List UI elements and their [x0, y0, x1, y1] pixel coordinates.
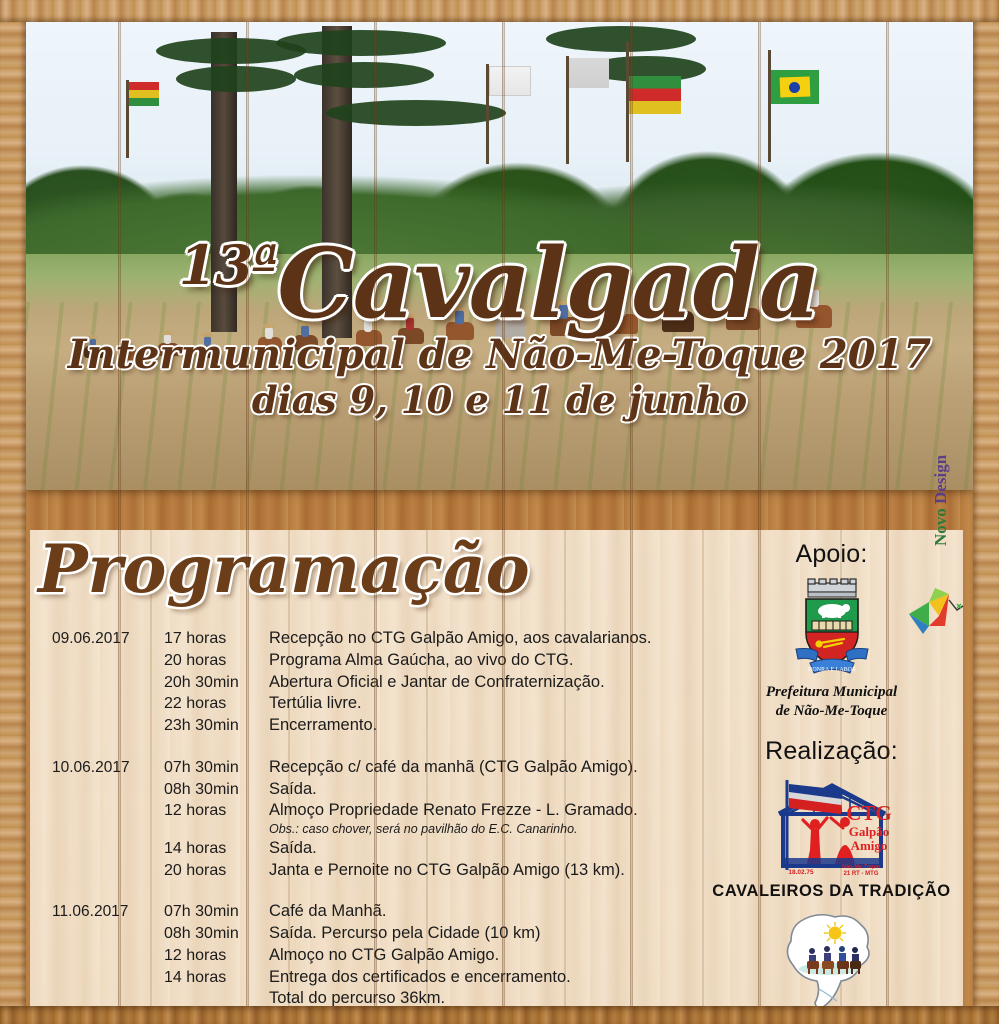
- novo-design-label: Novo Design: [931, 455, 951, 546]
- schedule-date: 10.06.2017: [52, 758, 164, 778]
- svg-text:18.02.75: 18.02.75: [788, 869, 814, 876]
- schedule-row: 12 horas Almoço Propriedade Renato Frezz…: [52, 800, 672, 822]
- schedule-time: 20 horas: [164, 650, 269, 671]
- schedule-time: 08h 30min: [164, 779, 269, 800]
- schedule-time: 07h 30min: [164, 901, 269, 922]
- poster-root: 13ªCavalgada Intermunicipal de Não-Me-To…: [0, 0, 999, 1024]
- schedule-row: 08h 30min Saída.: [52, 779, 672, 801]
- schedule-row: 22 horas Tertúlia livre.: [52, 693, 672, 715]
- araucaria-canopy: [326, 100, 506, 126]
- schedule-time: 08h 30min: [164, 923, 269, 944]
- schedule-time: 07h 30min: [164, 757, 269, 778]
- schedule-desc: Janta e Pernoite no CTG Galpão Amigo (13…: [269, 860, 672, 882]
- prefeitura-coat-of-arms-icon: HONRA E LABOR: [786, 577, 878, 681]
- schedule-day-block: 09.06.2017 17 horas Recepção no CTG Galp…: [52, 628, 672, 737]
- schedule-desc: Saída.: [269, 838, 672, 860]
- schedule-time: 14 horas: [164, 838, 269, 859]
- flag-rio-grande-do-sul: [629, 76, 681, 114]
- section-heading-programacao: Programação: [38, 530, 530, 608]
- poster-dates: dias 9, 10 e 11 de junho: [26, 378, 973, 422]
- schedule-time: 22 horas: [164, 693, 269, 714]
- poster-title-block: 13ªCavalgada Intermunicipal de Não-Me-To…: [26, 238, 973, 422]
- schedule-time: 12 horas: [164, 945, 269, 966]
- sponsors-column: Apoio: Novo Design: [700, 540, 963, 1015]
- schedule-desc: Almoço no CTG Galpão Amigo.: [269, 945, 672, 967]
- prefeitura-name-line1: Prefeitura Municipal: [700, 683, 963, 702]
- rio-grande-do-sul-map-emblem-icon: [773, 907, 891, 1015]
- schedule-list: 09.06.2017 17 horas Recepção no CTG Galp…: [52, 628, 672, 1024]
- schedule-row: 10.06.2017 07h 30min Recepção c/ café da…: [52, 757, 672, 779]
- schedule-desc: Programa Alma Gaúcha, ao vivo do CTG.: [269, 650, 672, 672]
- araucaria-canopy: [546, 26, 696, 52]
- flag-white: [569, 58, 609, 88]
- svg-text:HONRA E LABOR: HONRA E LABOR: [807, 667, 855, 673]
- page-title: 13ªCavalgada: [26, 238, 973, 330]
- schedule-desc: Abertura Oficial e Jantar de Confraterni…: [269, 672, 672, 694]
- prefeitura-name-line2: de Não-Me-Toque: [700, 702, 963, 721]
- realization-label: Realização:: [700, 737, 963, 766]
- flag-pole: [768, 50, 771, 162]
- schedule-time: 12 horas: [164, 800, 269, 821]
- schedule-time: 20 horas: [164, 860, 269, 881]
- schedule-total-distance: Total do percurso 36km.: [269, 988, 672, 1010]
- schedule-row: 09.06.2017 17 horas Recepção no CTG Galp…: [52, 628, 672, 650]
- frame-border-right: [973, 0, 999, 1024]
- title-ordinal: 13ª: [179, 233, 277, 297]
- frame-border-top: [0, 0, 999, 22]
- flag-ctg-white: [489, 66, 531, 96]
- schedule-row: 14 horas Entrega dos certificados e ence…: [52, 967, 672, 989]
- schedule-desc: Tertúlia livre.: [269, 693, 672, 715]
- schedule-date: 11.06.2017: [52, 902, 164, 922]
- schedule-desc: Entrega dos certificados e encerramento.: [269, 967, 672, 989]
- schedule-note: Obs.: caso chover, será no pavilhão do E…: [269, 822, 672, 838]
- schedule-time: 17 horas: [164, 628, 269, 649]
- schedule-desc: Saída.: [269, 779, 672, 801]
- schedule-row: 12 horas Almoço no CTG Galpão Amigo.: [52, 945, 672, 967]
- svg-text:21 RT - MTG: 21 RT - MTG: [843, 871, 878, 877]
- schedule-desc: Almoço Propriedade Renato Frezze - L. Gr…: [269, 800, 672, 822]
- flag-small: [129, 82, 159, 106]
- schedule-date: 09.06.2017: [52, 629, 164, 649]
- schedule-row: 11.06.2017 07h 30min Café da Manhã.: [52, 901, 672, 923]
- svg-text:Não-Me-Toque: Não-Me-Toque: [842, 864, 880, 870]
- schedule-row: 20 horas Programa Alma Gaúcha, ao vivo d…: [52, 650, 672, 672]
- schedule-desc: Saída. Percurso pela Cidade (10 km): [269, 923, 672, 945]
- schedule-time: 20h 30min: [164, 672, 269, 693]
- schedule-row: 20 horas Janta e Pernoite no CTG Galpão …: [52, 860, 672, 882]
- ctg-text-line3: Amigo: [850, 838, 887, 853]
- ctg-galpao-amigo-logo-icon: CTG Galpão Amigo 18.02.75 Não-Me-Toque 2…: [757, 774, 907, 878]
- schedule-desc: Recepção no CTG Galpão Amigo, aos cavala…: [269, 628, 672, 650]
- schedule-row: 14 horas Saída.: [52, 838, 672, 860]
- schedule-time: 14 horas: [164, 967, 269, 988]
- ctg-text-line1: CTG: [846, 801, 892, 825]
- schedule-desc: Recepção c/ café da manhã (CTG Galpão Am…: [269, 757, 672, 779]
- araucaria-canopy: [294, 62, 434, 88]
- novo-design-credit: Novo Design: [905, 542, 967, 650]
- title-word: Cavalgada: [277, 227, 820, 340]
- araucaria-canopy: [276, 30, 446, 56]
- schedule-day-block: 11.06.2017 07h 30min Café da Manhã. 08h …: [52, 901, 672, 1010]
- schedule-row: 20h 30min Abertura Oficial e Jantar de C…: [52, 672, 672, 694]
- poster-subtitle: Intermunicipal de Não-Me-Toque 2017: [26, 334, 973, 376]
- novo-design-logo-icon: [905, 542, 967, 650]
- araucaria-canopy: [176, 66, 296, 92]
- schedule-desc: Encerramento.: [269, 715, 672, 737]
- schedule-row: 23h 30min Encerramento.: [52, 715, 672, 737]
- schedule-day-block: 10.06.2017 07h 30min Recepção c/ café da…: [52, 757, 672, 881]
- frame-border-left: [0, 0, 26, 1024]
- flag-brazil: [771, 70, 819, 104]
- cavaleiros-da-tradicao-label: CAVALEIROS DA TRADIÇÃO: [700, 882, 963, 901]
- ctg-text-line2: Galpão: [848, 824, 888, 839]
- schedule-time: 23h 30min: [164, 715, 269, 736]
- schedule-desc: Café da Manhã.: [269, 901, 672, 923]
- schedule-row: 08h 30min Saída. Percurso pela Cidade (1…: [52, 923, 672, 945]
